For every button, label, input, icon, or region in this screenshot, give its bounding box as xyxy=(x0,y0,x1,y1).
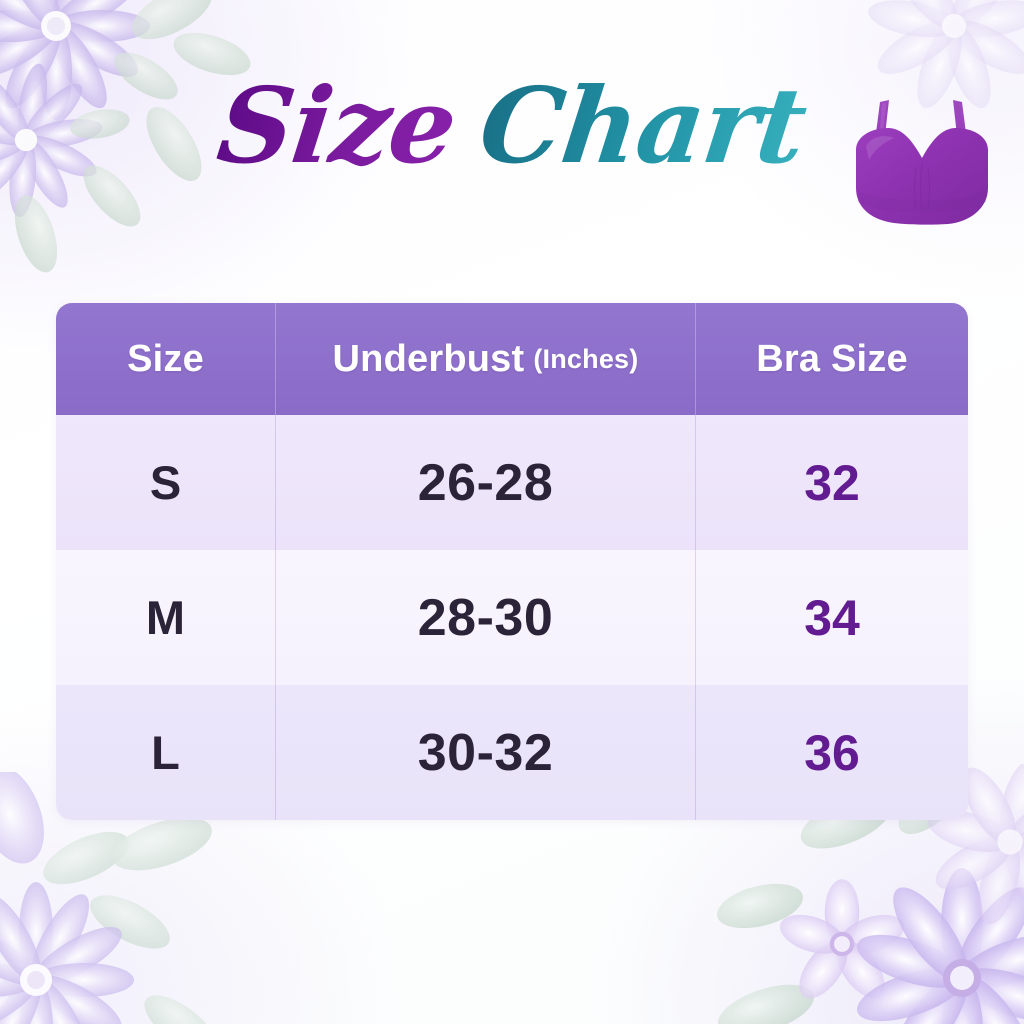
cell-underbust: 28-30 xyxy=(275,550,695,685)
cell-size: S xyxy=(56,415,275,550)
cell-size: L xyxy=(56,685,275,820)
page-title-word-size: Size xyxy=(213,74,488,178)
column-header-underbust-unit: (Inches) xyxy=(533,344,638,375)
cell-size-value: L xyxy=(151,725,180,780)
cell-bra-size: 36 xyxy=(695,685,968,820)
column-header-size: Size xyxy=(56,303,275,415)
cell-bra-size-value: 32 xyxy=(804,454,860,512)
column-header-underbust-label: Underbust xyxy=(333,338,525,381)
cell-bra-size: 34 xyxy=(695,550,968,685)
cell-underbust-value: 26-28 xyxy=(418,453,554,513)
column-header-size-label: Size xyxy=(127,338,204,381)
size-chart-table: Size Underbust(Inches) Bra Size S 26-28 … xyxy=(56,303,968,820)
table-row: M 28-30 34 xyxy=(56,550,968,685)
cell-underbust-value: 30-32 xyxy=(418,723,554,783)
table-header-row: Size Underbust(Inches) Bra Size xyxy=(56,303,968,415)
column-header-underbust: Underbust(Inches) xyxy=(275,303,695,415)
cell-size-value: S xyxy=(150,455,181,510)
cell-size: M xyxy=(56,550,275,685)
bra-illustration xyxy=(836,84,1008,244)
column-header-bra-size: Bra Size xyxy=(695,303,968,415)
size-chart-page: SizeChart xyxy=(0,0,1024,1024)
table-row: S 26-28 32 xyxy=(56,415,968,550)
cell-bra-size-value: 36 xyxy=(804,724,860,782)
column-header-bra-size-label: Bra Size xyxy=(756,338,908,381)
cell-size-value: M xyxy=(146,590,185,645)
cell-underbust-value: 28-30 xyxy=(418,588,554,648)
cell-underbust: 26-28 xyxy=(275,415,695,550)
cell-bra-size-value: 34 xyxy=(804,589,860,647)
table-row: L 30-32 36 xyxy=(56,685,968,820)
page-title-word-chart: Chart xyxy=(475,74,811,178)
cell-underbust: 30-32 xyxy=(275,685,695,820)
cell-bra-size: 32 xyxy=(695,415,968,550)
